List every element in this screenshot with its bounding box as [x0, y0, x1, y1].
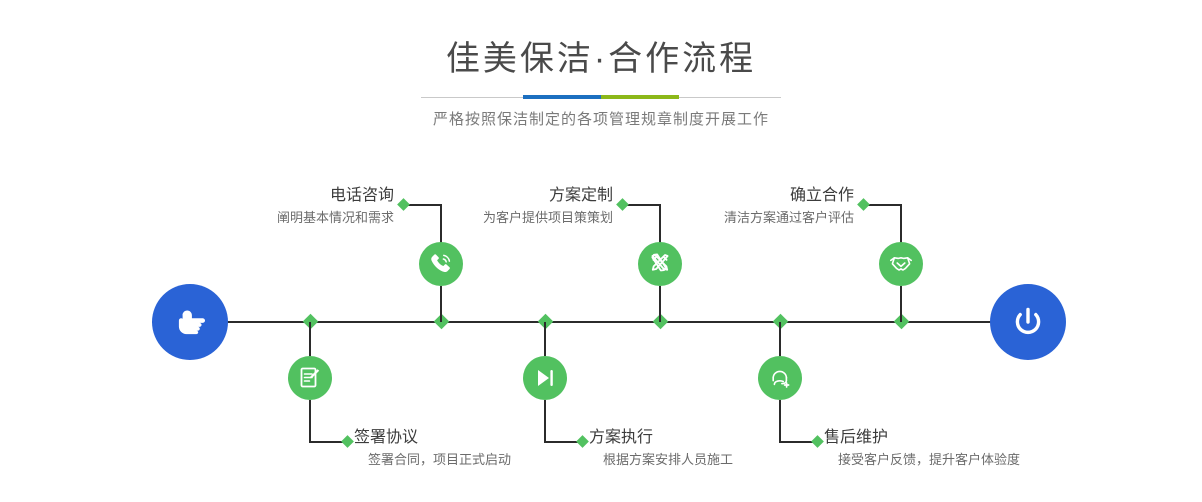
connector-vertical-5b — [900, 286, 902, 322]
timeline-axis — [152, 321, 1054, 323]
connector-arrow-5 — [857, 198, 870, 211]
connector-vertical-6 — [779, 322, 781, 356]
connector-vertical-6b — [779, 400, 781, 442]
connector-vertical-1b — [440, 286, 442, 322]
step-label-3: 方案定制 为客户提供项目策策划 — [433, 186, 613, 228]
step-title-5: 确立合作 — [672, 186, 854, 206]
phone-call-icon — [428, 251, 454, 277]
connector-arrow-1 — [397, 198, 410, 211]
connector-vertical-2 — [309, 322, 311, 356]
step-icon-6[interactable] — [758, 356, 802, 400]
step-label-2: 签署协议 签署合同，项目正式启动 — [354, 428, 584, 470]
step-label-6: 售后维护 接受客户反馈，提升客户体验度 — [824, 428, 1084, 470]
step-desc-5: 清洁方案通过客户评估 — [672, 208, 854, 228]
step-desc-6: 接受客户反馈，提升客户体验度 — [838, 450, 1084, 470]
connector-arrow-3 — [616, 198, 629, 211]
connector-arrow-2 — [341, 435, 354, 448]
pointing-hand-icon — [169, 301, 211, 343]
connector-vertical-4 — [544, 322, 546, 356]
step-icon-2[interactable] — [288, 356, 332, 400]
connector-vertical-3b — [659, 286, 661, 322]
play-execute-icon — [532, 365, 558, 391]
support-headset-add-icon — [767, 365, 793, 391]
timeline-end-marker — [990, 284, 1066, 360]
step-label-5: 确立合作 清洁方案通过客户评估 — [672, 186, 854, 228]
connector-vertical-2b — [309, 400, 311, 442]
document-sign-icon — [297, 365, 323, 391]
step-desc-3: 为客户提供项目策策划 — [433, 208, 613, 228]
handshake-icon — [888, 251, 914, 277]
step-desc-2: 签署合同，项目正式启动 — [368, 450, 584, 470]
step-title-4: 方案执行 — [589, 428, 819, 448]
process-timeline: 电话咨询 阐明基本情况和需求 签署协议 签署合同，项目正式启动 — [0, 0, 1202, 502]
cooperation-process-infographic: 佳美保洁·合作流程 严格按照保洁制定的各项管理规章制度开展工作 — [0, 0, 1202, 502]
step-icon-5[interactable] — [879, 242, 923, 286]
pen-pencil-icon — [647, 251, 673, 277]
step-desc-4: 根据方案安排人员施工 — [603, 450, 819, 470]
connector-vertical-4b — [544, 400, 546, 442]
timeline-start-marker — [152, 284, 228, 360]
step-icon-1[interactable] — [419, 242, 463, 286]
step-label-4: 方案执行 根据方案安排人员施工 — [589, 428, 819, 470]
step-title-1: 电话咨询 — [214, 186, 394, 206]
power-icon — [1007, 301, 1049, 343]
step-title-3: 方案定制 — [433, 186, 613, 206]
step-title-2: 签署协议 — [354, 428, 584, 448]
step-icon-3[interactable] — [638, 242, 682, 286]
step-title-6: 售后维护 — [824, 428, 1084, 448]
step-icon-4[interactable] — [523, 356, 567, 400]
step-label-1: 电话咨询 阐明基本情况和需求 — [214, 186, 394, 228]
step-desc-1: 阐明基本情况和需求 — [214, 208, 394, 228]
connector-vertical-3 — [659, 205, 661, 243]
connector-vertical-5 — [900, 205, 902, 243]
